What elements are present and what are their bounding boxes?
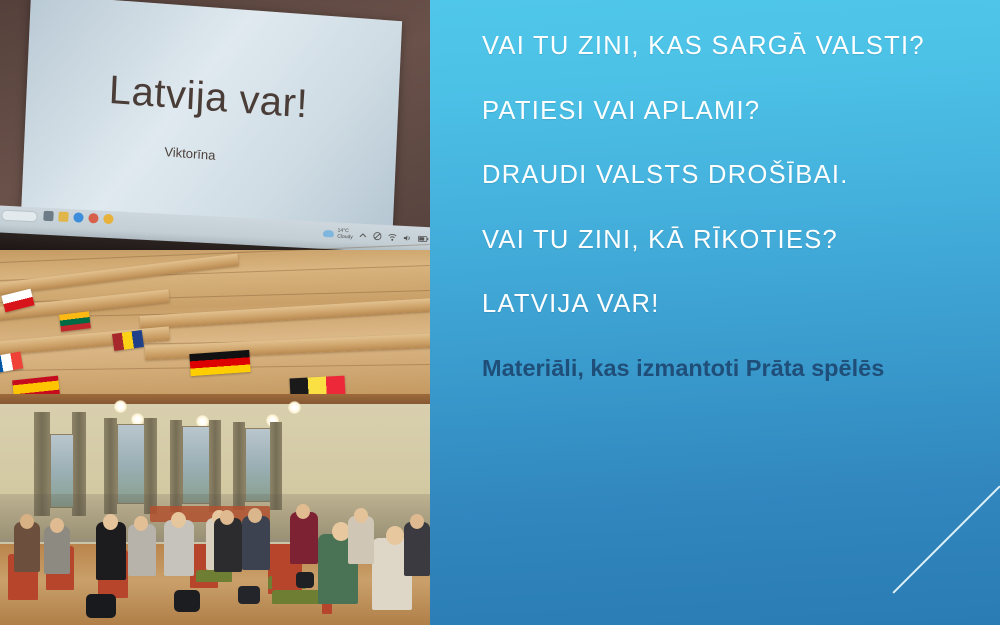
audience-member-head: [103, 514, 118, 530]
audience-member: [44, 526, 70, 574]
audience-member-head: [134, 516, 148, 531]
audience-member-head: [354, 508, 368, 523]
cloud-icon: [323, 230, 334, 238]
chevron-up-icon: [359, 231, 367, 239]
wifi-icon: [388, 233, 397, 241]
flag-romania: [112, 330, 144, 351]
list-item: DRAUDI VALSTS DROŠĪBAI.: [482, 163, 990, 189]
taskbar-icon-app: [88, 213, 98, 223]
audience-member: [290, 512, 318, 564]
taskbar-icon-chrome: [103, 214, 113, 224]
taskbar-icon-explorer: [43, 211, 53, 221]
backpack: [238, 586, 260, 604]
wooden-steps: [0, 250, 430, 394]
backpack: [174, 590, 200, 612]
audience-member: [14, 522, 40, 572]
mute-icon: [373, 231, 382, 240]
hall-window: [117, 424, 146, 504]
flag-belgium: [290, 376, 346, 394]
flag-lithuania: [59, 311, 91, 332]
audience-member: [214, 518, 242, 572]
taskbar-system-tray: 14°C Cloudy: [323, 228, 429, 244]
battery-icon: [418, 234, 429, 243]
bullet-list: VAI TU ZINI, KAS SARGĀ VALSTI? PATIESI V…: [482, 34, 990, 380]
hall-window: [182, 426, 211, 504]
audience-photo: [0, 394, 430, 625]
taskbar-app-icons: [43, 211, 113, 225]
audience-member-head: [171, 512, 186, 528]
audience-member-head: [220, 510, 234, 525]
audience-member: [404, 522, 430, 576]
audience-member-head: [50, 518, 64, 533]
text-panel: VAI TU ZINI, KAS SARGĀ VALSTI? PATIESI V…: [430, 0, 1000, 625]
list-item: LATVIJA VAR!: [482, 292, 990, 318]
flag-germany: [189, 350, 250, 376]
projected-subtitle: Viktorīna: [24, 134, 356, 173]
photo-column: Latvija var! Viktorīna 14°C: [0, 0, 430, 625]
ceiling-lamp: [114, 400, 127, 413]
audience-member: [128, 524, 156, 576]
audience-member: [96, 522, 126, 580]
projected-title: Latvija var!: [26, 62, 391, 134]
ceiling-lamp: [288, 401, 301, 414]
backpack: [296, 572, 314, 588]
audience-member-head: [296, 504, 310, 519]
list-item: PATIESI VAI APLAMI?: [482, 99, 990, 125]
presentation-slide: Latvija var! Viktorīna 14°C: [0, 0, 1000, 625]
weather-condition: Cloudy: [337, 234, 353, 240]
flag-spain: [12, 376, 60, 394]
taskbar-icon-edge: [73, 212, 83, 222]
audience-member-head: [410, 514, 424, 529]
taskbar-icon-folder: [58, 211, 68, 221]
list-item: VAI TU ZINI, KAS SARGĀ VALSTI?: [482, 34, 990, 60]
backpack: [86, 594, 116, 618]
list-item: VAI TU ZINI, KĀ RĪKOTIES?: [482, 228, 990, 254]
projected-slide-photo: Latvija var! Viktorīna 14°C: [0, 0, 430, 394]
audience-member: [242, 516, 270, 570]
taskbar-search-icon: [1, 210, 38, 223]
audience-member-head: [248, 508, 262, 523]
audience-member-head: [20, 514, 34, 529]
volume-icon: [403, 233, 412, 241]
audience-member: [348, 516, 374, 564]
audience-member-head: [386, 526, 404, 545]
weather-widget: 14°C Cloudy: [323, 228, 353, 240]
footer-caption: Materiāli, kas izmantoti Prāta spēlēs: [482, 357, 990, 381]
audience-member: [164, 520, 194, 576]
hall-window: [245, 428, 272, 502]
